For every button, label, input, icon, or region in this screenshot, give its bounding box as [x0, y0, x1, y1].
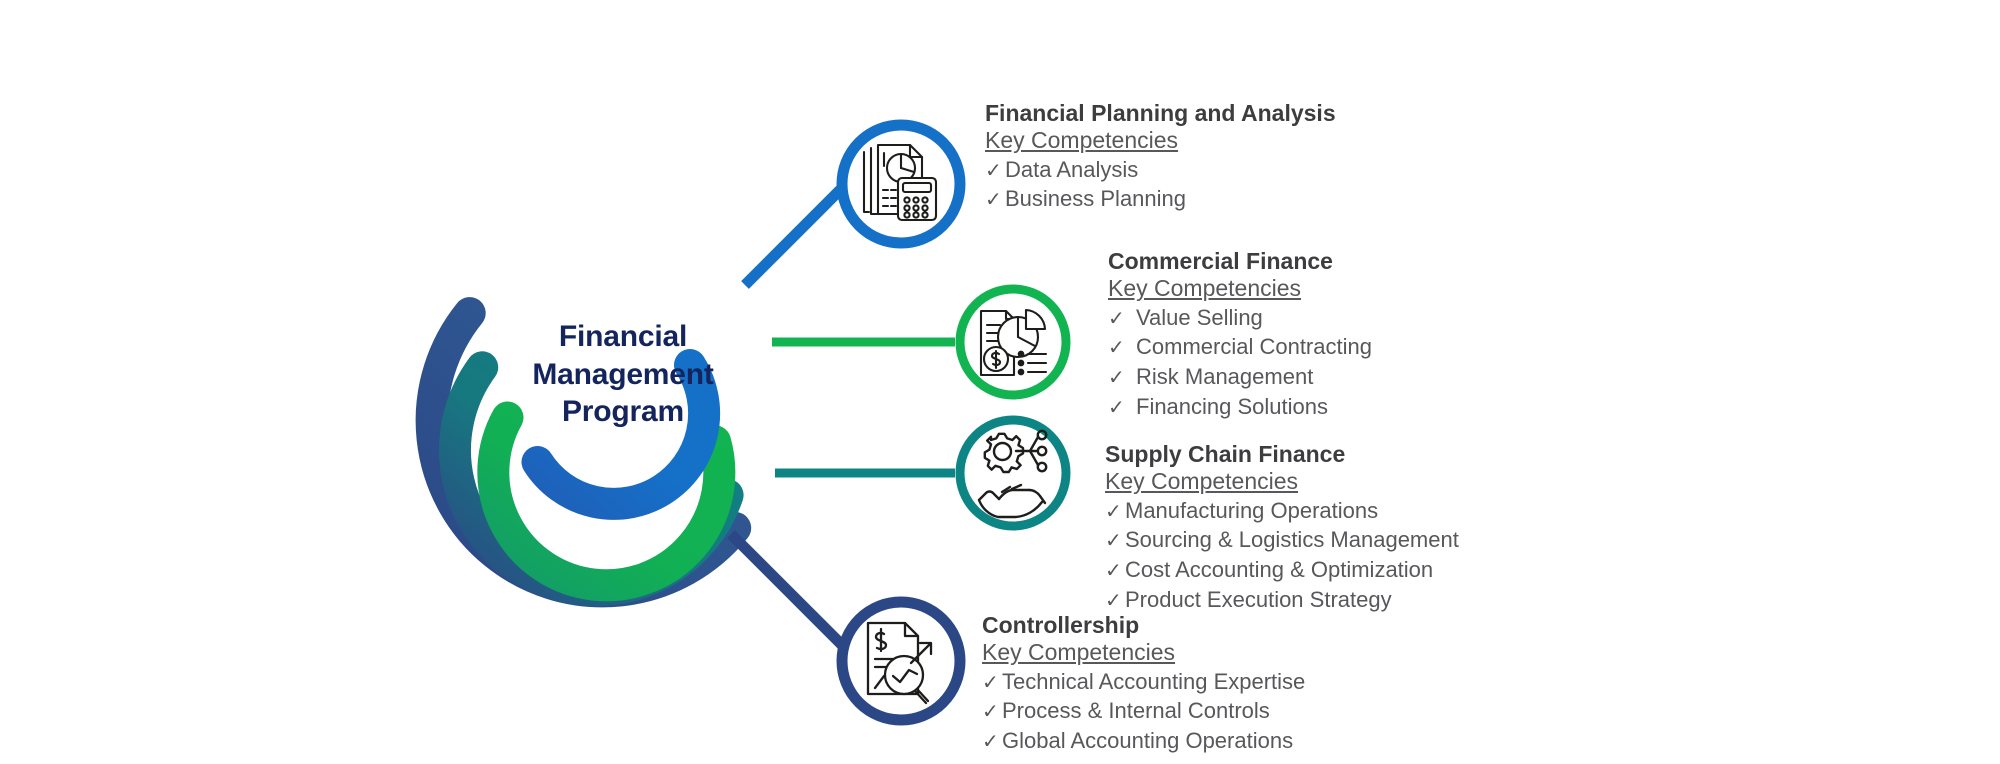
node-financial-planning-and-analysis[interactable]	[842, 125, 960, 243]
list-item: ✓Business Planning	[985, 184, 1336, 214]
competency-label: Business Planning	[1005, 186, 1186, 211]
competency-list: ✓Manufacturing Operations ✓Sourcing & Lo…	[1105, 496, 1459, 614]
check-icon: ✓	[1105, 588, 1125, 615]
branch-text-supply-chain-finance: Supply Chain Finance Key Competencies ✓M…	[1105, 441, 1459, 614]
check-icon: ✓	[1108, 335, 1136, 362]
check-icon: ✓	[985, 187, 1005, 214]
competency-label: Commercial Contracting	[1136, 334, 1372, 359]
connector-financial-planning	[745, 187, 843, 285]
branch-heading: Controllership	[982, 612, 1305, 639]
list-item: ✓Product Execution Strategy	[1105, 585, 1459, 615]
node-commercial-finance[interactable]	[960, 289, 1066, 395]
hub-title: Financial Management Program	[498, 318, 748, 431]
branch-heading: Commercial Finance	[1108, 248, 1372, 275]
check-icon: ✓	[1105, 499, 1125, 526]
node-ring-supply-chain-finance	[960, 420, 1066, 526]
list-item: ✓Process & Internal Controls	[982, 696, 1305, 726]
competency-list: ✓Data Analysis ✓Business Planning	[985, 155, 1336, 214]
list-item: ✓Technical Accounting Expertise	[982, 667, 1305, 697]
connector-group	[731, 187, 955, 652]
branch-heading: Financial Planning and Analysis	[985, 100, 1336, 127]
competency-label: Process & Internal Controls	[1002, 698, 1270, 723]
competency-list: ✓Technical Accounting Expertise ✓Process…	[982, 667, 1305, 756]
hub-title-line-2: Management	[498, 356, 748, 394]
check-icon: ✓	[1105, 528, 1125, 555]
branch-heading: Supply Chain Finance	[1105, 441, 1459, 468]
check-icon: ✓	[1108, 395, 1136, 422]
competency-label: Manufacturing Operations	[1125, 498, 1378, 523]
branch-text-controllership: Controllership Key Competencies ✓Technic…	[982, 612, 1305, 756]
list-item: ✓Risk Management	[1108, 362, 1372, 392]
infographic-canvas: Financial Management Program Financial P…	[0, 0, 2000, 764]
competency-label: Data Analysis	[1005, 157, 1138, 182]
list-item: ✓Manufacturing Operations	[1105, 496, 1459, 526]
check-icon: ✓	[985, 158, 1005, 185]
competency-label: Cost Accounting & Optimization	[1125, 557, 1433, 582]
branch-text-commercial-finance: Commercial Finance Key Competencies ✓Val…	[1108, 248, 1372, 421]
competency-label: Product Execution Strategy	[1125, 587, 1392, 612]
list-item: ✓Sourcing & Logistics Management	[1105, 525, 1459, 555]
check-icon: ✓	[1105, 558, 1125, 585]
check-icon: ✓	[982, 729, 1002, 756]
check-icon: ✓	[1108, 365, 1136, 392]
check-icon: ✓	[1108, 306, 1136, 333]
list-item: ✓Data Analysis	[985, 155, 1336, 185]
check-icon: ✓	[982, 699, 1002, 726]
check-icon: ✓	[982, 670, 1002, 697]
branch-text-financial-planning-and-analysis: Financial Planning and Analysis Key Comp…	[985, 100, 1336, 214]
competency-label: Financing Solutions	[1136, 394, 1328, 419]
competency-label: Value Selling	[1136, 305, 1263, 330]
connector-controllership	[731, 534, 849, 652]
competency-list: ✓Value Selling ✓Commercial Contracting ✓…	[1108, 303, 1372, 421]
branch-subheading: Key Competencies	[1105, 468, 1459, 496]
hub-title-line-1: Financial	[498, 318, 748, 356]
branch-subheading: Key Competencies	[985, 127, 1336, 155]
list-item: ✓Value Selling	[1108, 303, 1372, 333]
node-controllership[interactable]	[842, 602, 960, 720]
competency-label: Risk Management	[1136, 364, 1313, 389]
list-item: ✓Cost Accounting & Optimization	[1105, 555, 1459, 585]
branch-subheading: Key Competencies	[982, 639, 1305, 667]
hub-title-line-3: Program	[498, 393, 748, 431]
competency-label: Global Accounting Operations	[1002, 728, 1293, 753]
list-item: ✓Financing Solutions	[1108, 392, 1372, 422]
list-item: ✓Global Accounting Operations	[982, 726, 1305, 756]
competency-label: Sourcing & Logistics Management	[1125, 527, 1459, 552]
list-item: ✓Commercial Contracting	[1108, 332, 1372, 362]
node-supply-chain-finance[interactable]	[960, 420, 1066, 526]
competency-label: Technical Accounting Expertise	[1002, 669, 1305, 694]
branch-subheading: Key Competencies	[1108, 275, 1372, 303]
